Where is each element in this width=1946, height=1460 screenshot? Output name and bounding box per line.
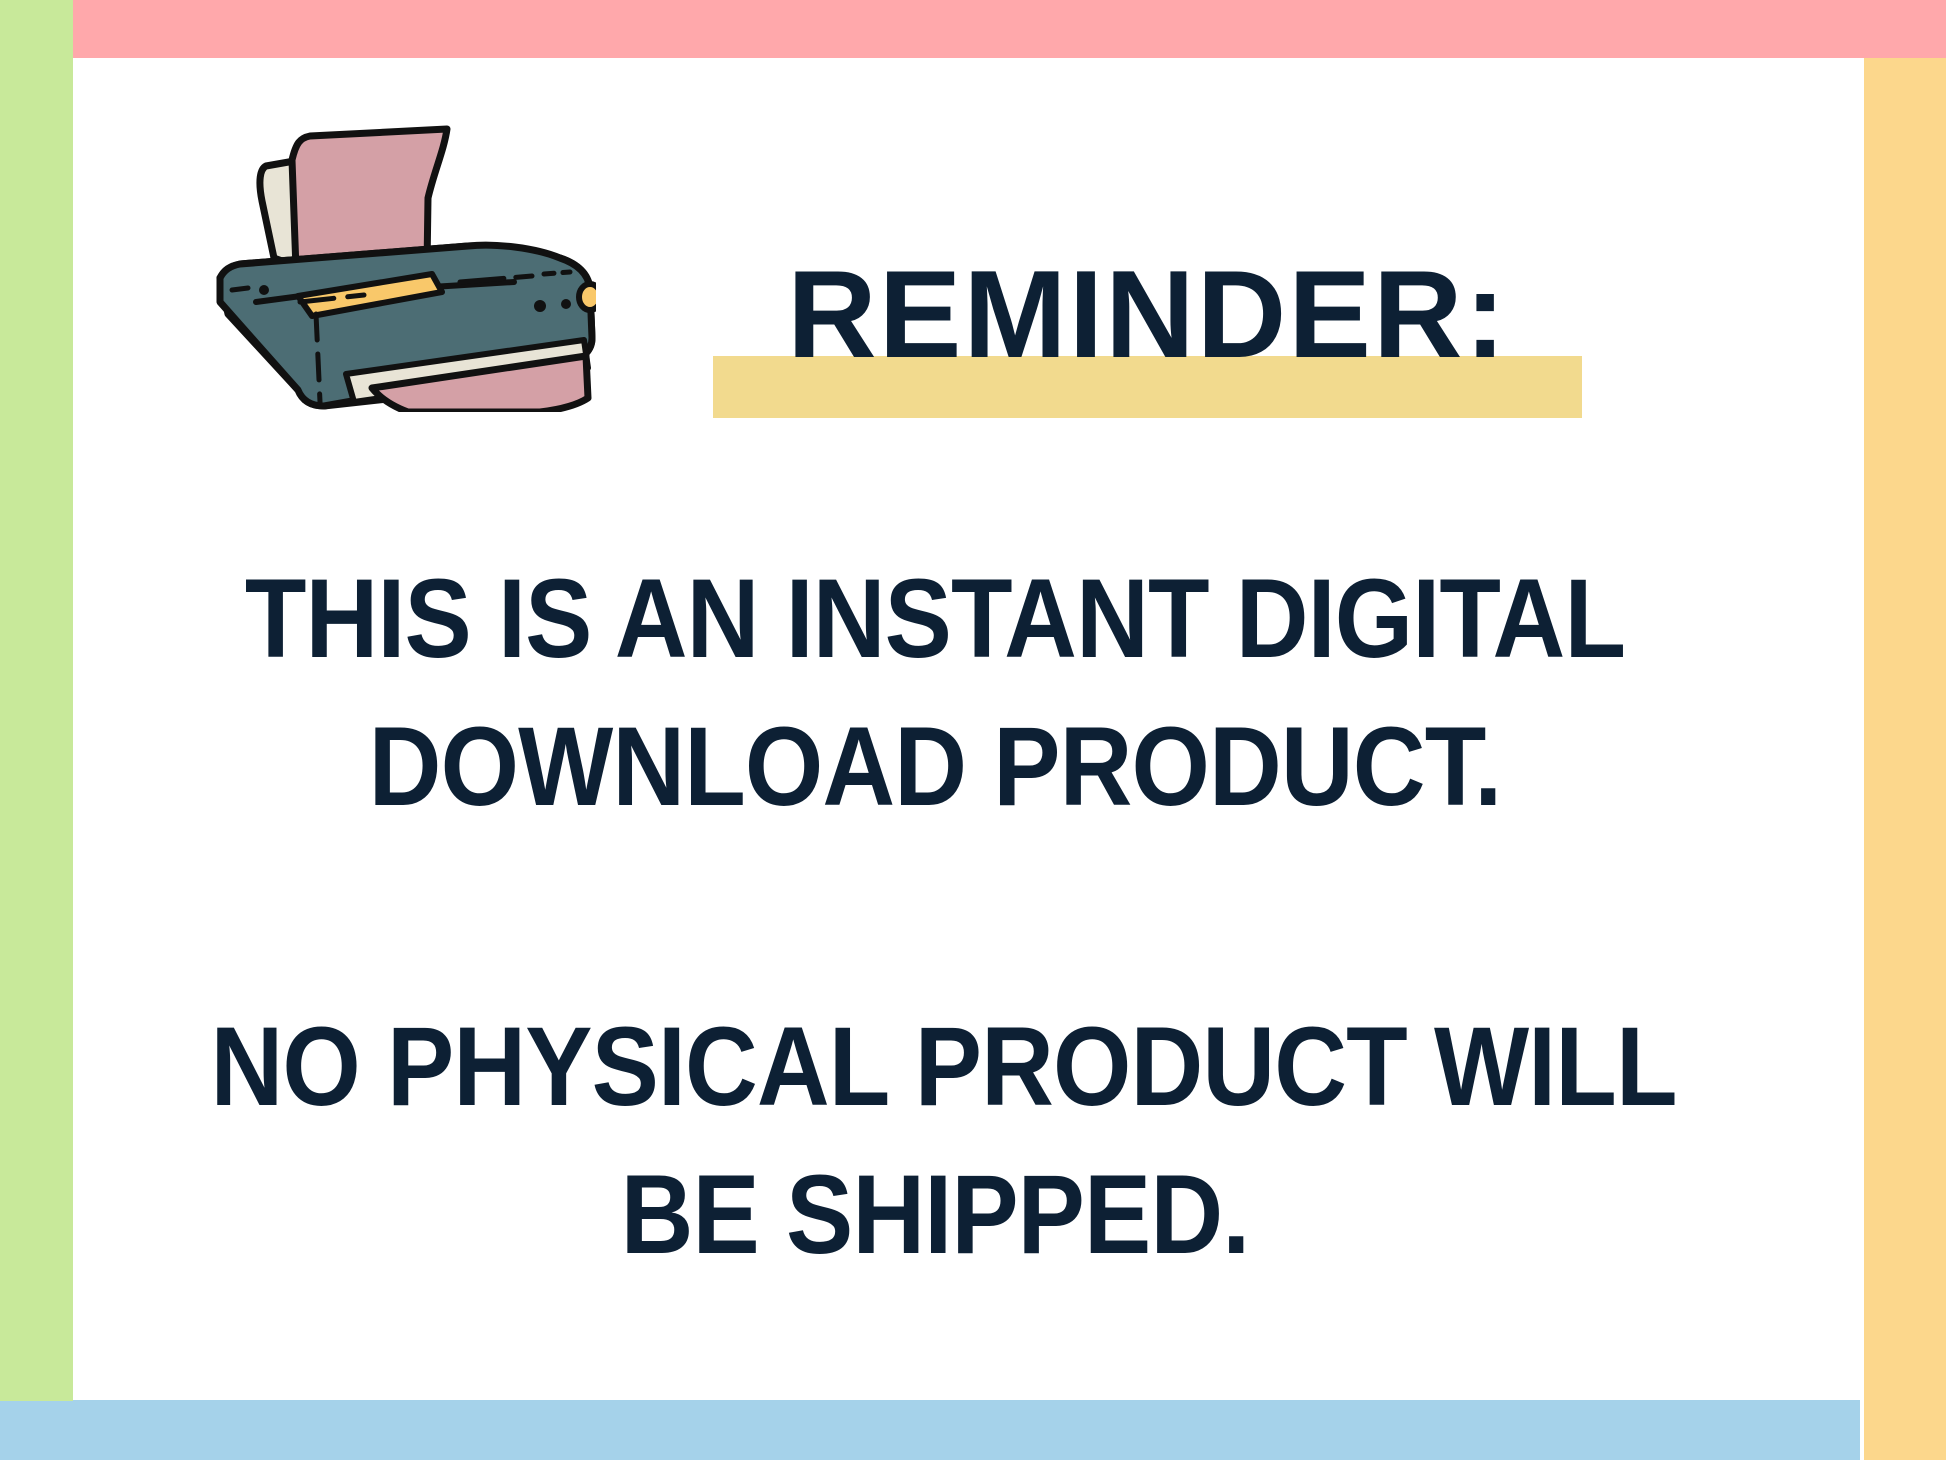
headline-block: REMINDER: [713, 240, 1583, 420]
body-line: THIS IS AN INSTANT DIGITAL [211, 545, 1660, 693]
left-color-band [0, 0, 73, 1401]
right-color-band [1864, 58, 1946, 1460]
body-copy: THIS IS AN INSTANT DIGITAL DOWNLOAD PROD… [130, 545, 1740, 1289]
body-line: NO PHYSICAL PRODUCT WILL [211, 993, 1660, 1141]
printer-icon [196, 106, 596, 412]
paragraph-digital-download: THIS IS AN INSTANT DIGITAL DOWNLOAD PROD… [130, 545, 1740, 841]
page-title: REMINDER: [713, 240, 1582, 390]
bottom-color-band [0, 1400, 1860, 1460]
top-color-band [73, 0, 1946, 58]
paragraph-no-physical-product: NO PHYSICAL PRODUCT WILL BE SHIPPED. [130, 993, 1740, 1289]
body-line: DOWNLOAD PRODUCT. [211, 693, 1660, 841]
poster-canvas: REMINDER: THIS IS AN INSTANT DIGITAL DOW… [0, 0, 1946, 1460]
body-line: BE SHIPPED. [211, 1141, 1660, 1289]
paragraph-spacer [130, 841, 1740, 993]
